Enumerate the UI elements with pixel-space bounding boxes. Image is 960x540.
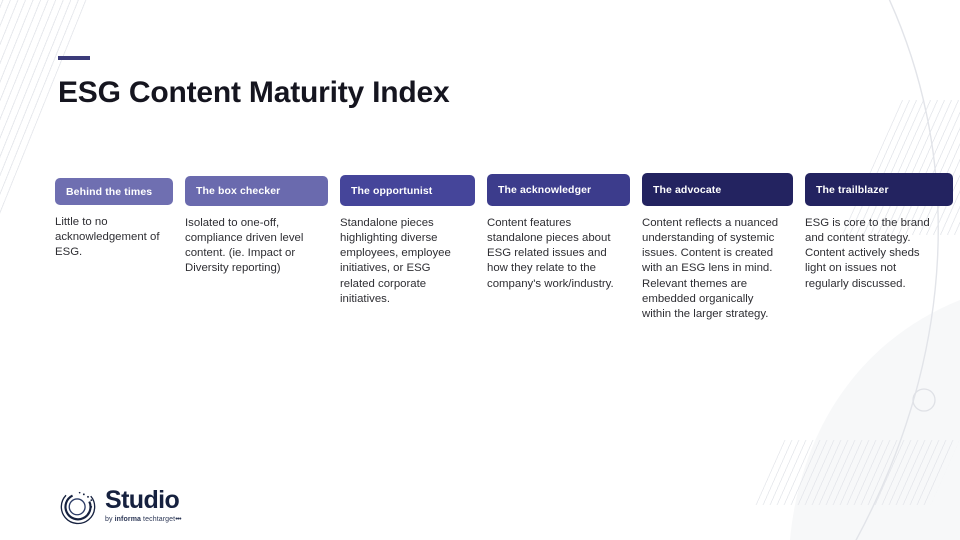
stage-column-4: The acknowledger Content features standa… [487, 168, 630, 368]
maturity-stage-list: Behind the times Little to no acknowledg… [55, 168, 917, 368]
logo-tagline-dots: ••• [175, 516, 181, 523]
hatch-pattern-bottom-right [756, 440, 960, 505]
stage-column-6: The trailblazer ESG is core to the brand… [805, 168, 953, 368]
title-accent-rule [58, 56, 90, 60]
logo-tagline: by informa techtarget••• [105, 516, 181, 523]
stage-header-bar-4[interactable]: The acknowledger [487, 174, 630, 206]
stage-header-bar-1[interactable]: Behind the times [55, 178, 173, 205]
logo-wordmark: Studio [105, 489, 181, 513]
stage-header-bar-5[interactable]: The advocate [642, 173, 793, 206]
stage-description-3: Standalone pieces highlighting diverse e… [340, 216, 475, 307]
logo-tagline-rest: techtarget [141, 516, 175, 523]
logo-tagline-prefix: by [105, 516, 115, 523]
stage-column-1: Behind the times Little to no acknowledg… [55, 168, 173, 368]
stage-header-bar-6[interactable]: The trailblazer [805, 173, 953, 206]
studio-logo[interactable]: Studio by informa techtarget••• [58, 486, 181, 526]
concentric-circles-icon [58, 486, 98, 526]
corner-blob-shape [800, 360, 960, 540]
stage-column-3: The opportunist Standalone pieces highli… [340, 168, 475, 368]
logo-text-group: Studio by informa techtarget••• [105, 489, 181, 523]
stage-header-bar-3[interactable]: The opportunist [340, 175, 475, 206]
small-circle-outline-icon [913, 389, 935, 411]
stage-header-bar-2[interactable]: The box checker [185, 176, 328, 206]
slide-canvas: ESG Content Maturity Index Behind the ti… [0, 0, 960, 540]
logo-tagline-brand: informa [115, 516, 141, 523]
stage-description-1: Little to no acknowledgement of ESG. [55, 215, 173, 260]
stage-description-5: Content reflects a nuanced understanding… [642, 216, 793, 322]
page-title: ESG Content Maturity Index [58, 76, 450, 109]
stage-column-2: The box checker Isolated to one-off, com… [185, 168, 328, 368]
stage-description-6: ESG is core to the brand and content str… [805, 216, 953, 292]
stage-description-4: Content features standalone pieces about… [487, 216, 630, 292]
stage-description-2: Isolated to one-off, compliance driven l… [185, 216, 328, 277]
title-block: ESG Content Maturity Index [58, 56, 450, 109]
stage-column-5: The advocate Content reflects a nuanced … [642, 168, 793, 368]
